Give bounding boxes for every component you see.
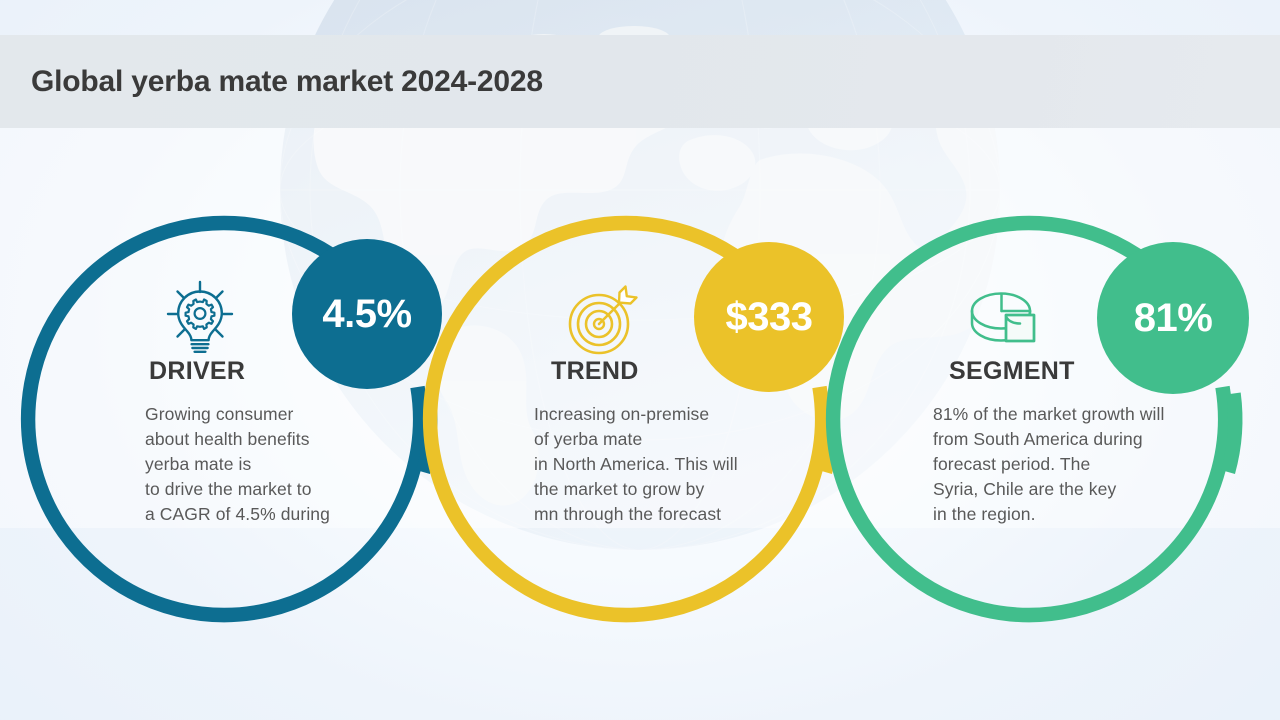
target-arrow-icon [563, 280, 643, 360]
slide-canvas: Global yerba mate market 2024-2028 [0, 0, 1280, 720]
ring-segment-tail [1228, 394, 1235, 473]
card-driver-badge[interactable]: 4.5% [292, 239, 442, 389]
card-driver-badge-value: 4.5% [322, 294, 411, 334]
lightbulb-gear-icon [158, 278, 242, 362]
card-trend-badge[interactable]: $333 [694, 242, 844, 392]
card-segment-badge[interactable]: 81% [1097, 242, 1249, 394]
card-segment-badge-value: 81% [1134, 298, 1213, 338]
pie-chart-icon [966, 285, 1042, 357]
card-trend-badge-value: $333 [726, 297, 813, 337]
